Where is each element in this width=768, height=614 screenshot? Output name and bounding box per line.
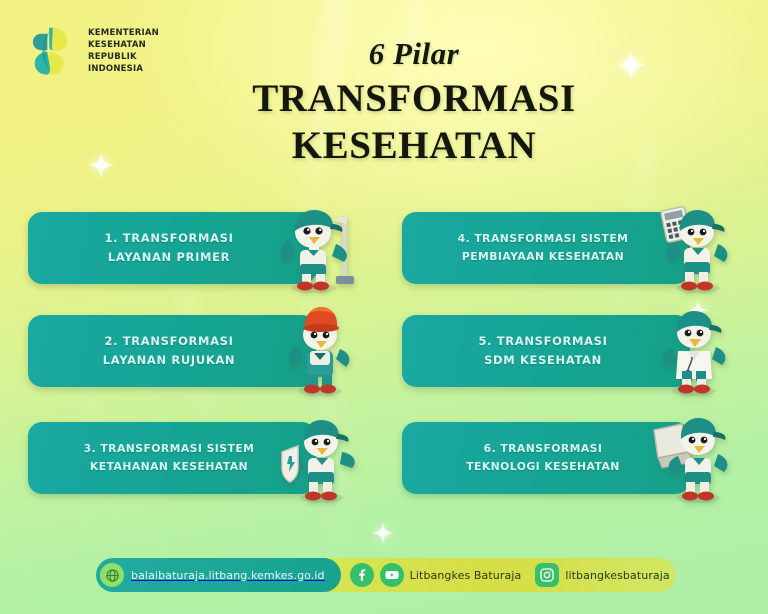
- pillars-grid: 1. TRANSFORMASILAYANAN PRIMER: [0, 196, 768, 516]
- pillar-label-3: 3. TRANSFORMASI SISTEMKETAHANAN KESEHATA…: [84, 440, 255, 476]
- social-instagram-group[interactable]: litbangkesbaturaja: [535, 563, 669, 587]
- pillar-pill-3[interactable]: 3. TRANSFORMASI SISTEMKETAHANAN KESEHATA…: [28, 422, 316, 494]
- pillar-label-1: 1. TRANSFORMASILAYANAN PRIMER: [104, 229, 233, 267]
- title-eyebrow: 6 Pilar: [60, 38, 768, 71]
- website-url: balaibaturaja.litbang.kemkes.go.id: [131, 569, 325, 582]
- pillar-card-3[interactable]: 3. TRANSFORMASI SISTEMKETAHANAN KESEHATA…: [28, 422, 366, 498]
- facebook-icon[interactable]: [350, 563, 374, 587]
- mascot-with-shield-icon: [274, 408, 366, 504]
- footer-bar: balaibaturaja.litbang.kemkes.go.id Litba…: [96, 558, 676, 592]
- globe-icon: [100, 563, 124, 587]
- title-line-1: TRANSFORMASI: [60, 75, 768, 123]
- title-line-2: KESEHATAN: [60, 122, 768, 170]
- pillar-pill-4[interactable]: 4. TRANSFORMASI SISTEMPEMBIAYAAN KESEHAT…: [402, 212, 690, 284]
- pillar-card-2[interactable]: 2. TRANSFORMASILAYANAN RUJUKAN: [28, 315, 366, 391]
- poster-canvas: KEMENTERIAN KESEHATAN REPUBLIK INDONESIA…: [0, 0, 768, 614]
- pillar-label-4: 4. TRANSFORMASI SISTEMPEMBIAYAAN KESEHAT…: [458, 230, 629, 266]
- pillar-label-6: 6. TRANSFORMASITEKNOLOGI KESEHATAN: [466, 440, 620, 476]
- mascot-with-calculator-icon: [648, 198, 740, 294]
- pillar-label-5: 5. TRANSFORMASISDM KESEHATAN: [478, 332, 607, 370]
- sparkle-icon: [372, 522, 394, 544]
- title-main: TRANSFORMASI KESEHATAN: [60, 75, 768, 170]
- website-link[interactable]: balaibaturaja.litbang.kemkes.go.id: [96, 558, 341, 592]
- pillar-pill-6[interactable]: 6. TRANSFORMASITEKNOLOGI KESEHATAN: [402, 422, 690, 494]
- instagram-handle: litbangkesbaturaja: [565, 569, 669, 582]
- youtube-icon[interactable]: [380, 563, 404, 587]
- pillar-card-5[interactable]: 5. TRANSFORMASISDM KESEHATAN: [402, 315, 740, 391]
- pillar-label-2: 2. TRANSFORMASILAYANAN RUJUKAN: [103, 332, 235, 370]
- pillar-card-6[interactable]: 6. TRANSFORMASITEKNOLOGI KESEHATAN: [402, 422, 740, 498]
- social-facebook-youtube-group[interactable]: Litbangkes Baturaja: [350, 563, 522, 587]
- pillar-pill-2[interactable]: 2. TRANSFORMASILAYANAN RUJUKAN: [28, 315, 316, 387]
- pillar-pill-5[interactable]: 5. TRANSFORMASISDM KESEHATAN: [402, 315, 690, 387]
- mascot-measuring-height-icon: [274, 198, 366, 294]
- page-title: 6 Pilar TRANSFORMASI KESEHATAN: [0, 38, 768, 170]
- pillar-card-1[interactable]: 1. TRANSFORMASILAYANAN PRIMER: [28, 212, 366, 288]
- mascot-firefighter-helmet-icon: [274, 301, 366, 397]
- pillar-card-4[interactable]: 4. TRANSFORMASI SISTEMPEMBIAYAAN KESEHAT…: [402, 212, 740, 288]
- pillar-pill-1[interactable]: 1. TRANSFORMASILAYANAN PRIMER: [28, 212, 316, 284]
- mascot-doctor-coat-icon: [648, 301, 740, 397]
- mascot-with-laptop-icon: [648, 408, 740, 504]
- instagram-icon[interactable]: [535, 563, 559, 587]
- social-account-name: Litbangkes Baturaja: [410, 569, 522, 582]
